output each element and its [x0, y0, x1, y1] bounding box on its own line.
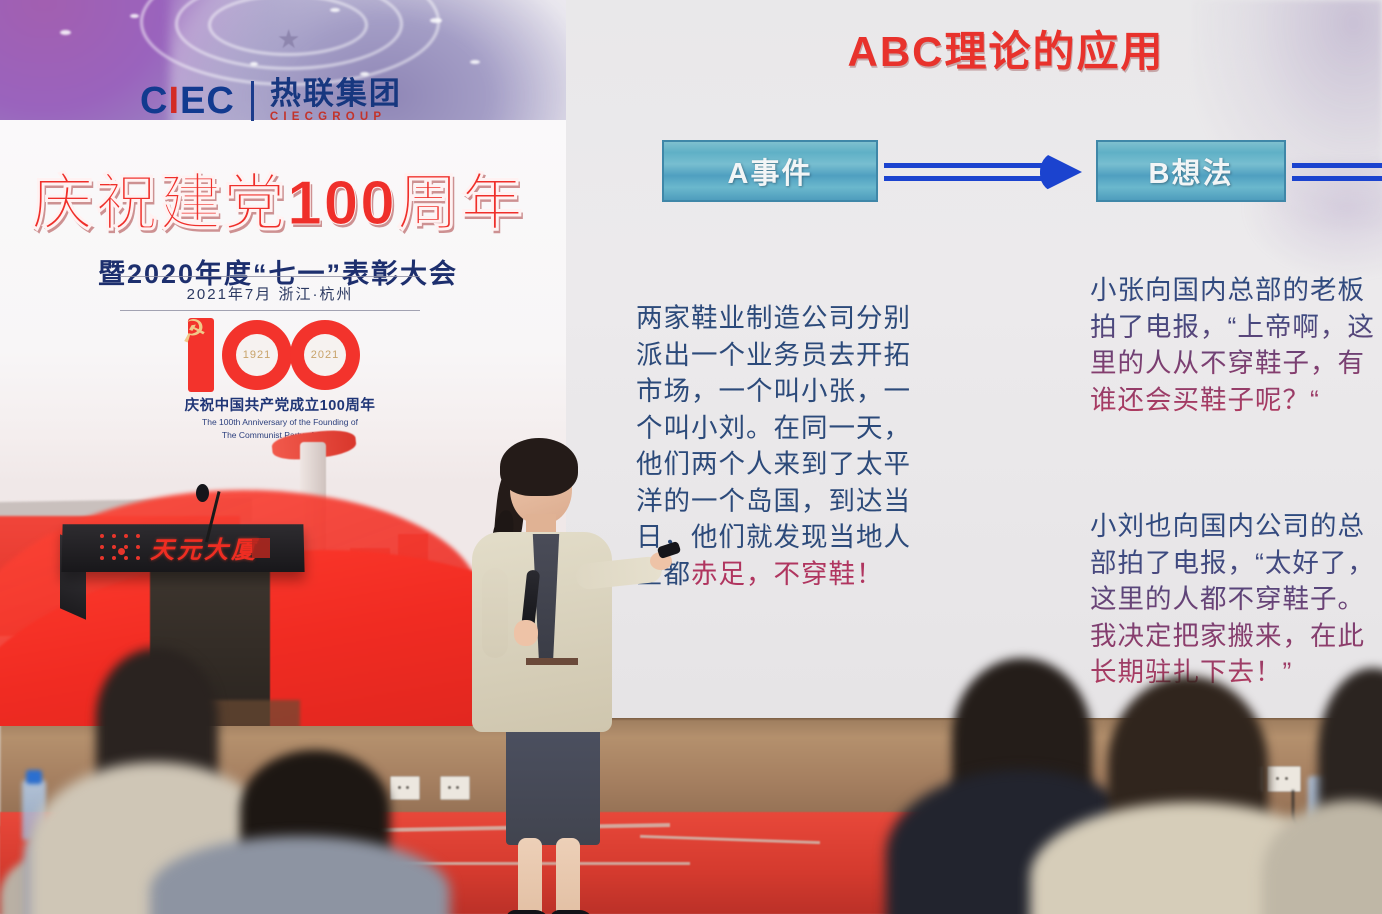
- arrow-a-to-b-icon: [884, 155, 1092, 189]
- speaker-hair: [500, 438, 578, 496]
- slide-text-right-top: 小张向国内总部的老板拍了电报，“上帝啊，这里的人从不穿鞋子，有谁还会买鞋子呢？“: [1090, 272, 1380, 418]
- slide-text-left-highlight: 赤足，不穿鞋！: [691, 559, 884, 589]
- wall-socket[interactable]: [1267, 766, 1301, 792]
- photo-scene: ★ CIEC 热联集团 CIECGROUP 庆祝建党100周年 暨2020年度“…: [0, 0, 1382, 914]
- podium-nameplate: 天元大厦: [150, 530, 258, 565]
- emblem-year-start: 1921: [236, 334, 278, 376]
- dateline-rule-bottom: [120, 310, 420, 311]
- ciec-letter-i: I: [168, 80, 180, 122]
- podium-microphone-icon: [196, 484, 209, 502]
- ciec-letter-c1: C: [140, 80, 168, 122]
- emblem-digit-zero-1: 1921: [222, 320, 292, 390]
- emblem-digit-zero-2: 2021: [290, 320, 360, 390]
- light-speck: [60, 30, 71, 35]
- podium-dot-logo: [100, 534, 144, 568]
- slide-box-a: A事件: [662, 140, 878, 202]
- brand-latin-subtitle: CIECGROUP: [270, 112, 402, 124]
- emblem-year-end: 2021: [304, 334, 346, 376]
- arrow-b-to-c-icon: [1292, 155, 1382, 189]
- wall-socket[interactable]: [390, 776, 420, 800]
- speaker-leg-left: [518, 838, 542, 914]
- light-speck: [130, 14, 139, 18]
- backdrop-dateline: 2021年7月 浙江·杭州: [120, 283, 420, 304]
- slide-box-b: B想法: [1096, 140, 1286, 202]
- dateline-rule-top: [120, 276, 420, 277]
- light-speck: [330, 8, 340, 12]
- podium-seal-icon: [252, 538, 270, 558]
- dove-icon: ➤: [226, 430, 252, 434]
- backdrop-headline: 庆祝建党100周年: [28, 152, 528, 242]
- brand-chinese-name: 热联集团: [270, 78, 402, 109]
- speaker-left-arm: [482, 568, 508, 658]
- ciec-logo: CIEC 热联集团 CIECGROUP: [140, 78, 402, 124]
- ciec-letter-c2: C: [206, 80, 234, 122]
- light-speck: [430, 18, 442, 23]
- speaker-belt: [526, 658, 578, 665]
- projection-screen: ABC理论的应用 A事件 B想法 两家鞋业制造公司分别派出一个业务员去开拓市场，…: [566, 0, 1382, 718]
- star-icon: ★: [277, 24, 300, 55]
- emblem-caption-en-1: The 100th Anniversary of the Founding of: [170, 417, 390, 428]
- brand-chinese-block: 热联集团 CIECGROUP: [270, 78, 402, 124]
- slide-title: ABC理论的应用: [686, 18, 1326, 79]
- emblem-caption-cn: 庆祝中国共产党成立100周年: [170, 394, 390, 415]
- speaker-left-hand: [514, 620, 538, 646]
- light-speck: [470, 60, 480, 64]
- backdrop-dateline-block: 2021年7月 浙江·杭州: [120, 270, 420, 317]
- speaker-leg-right: [556, 838, 580, 914]
- centenary-emblem: ☭ 1921 2021 庆祝中国共产党成立100周年 The 100th Ann…: [170, 318, 390, 440]
- emblem-number: ☭ 1921 2021: [170, 318, 390, 392]
- ciec-letter-e: E: [180, 80, 206, 122]
- bottle-cap: [26, 770, 42, 784]
- logo-divider: [251, 81, 254, 121]
- speaker-presenter: [452, 440, 672, 890]
- ciec-wordmark: CIEC: [140, 82, 235, 120]
- slide-text-right-bottom: 小刘也向国内公司的总部拍了电报，“太好了，这里的人都不穿鞋子。我决定把家搬来，在…: [1090, 508, 1380, 691]
- light-speck: [250, 62, 258, 66]
